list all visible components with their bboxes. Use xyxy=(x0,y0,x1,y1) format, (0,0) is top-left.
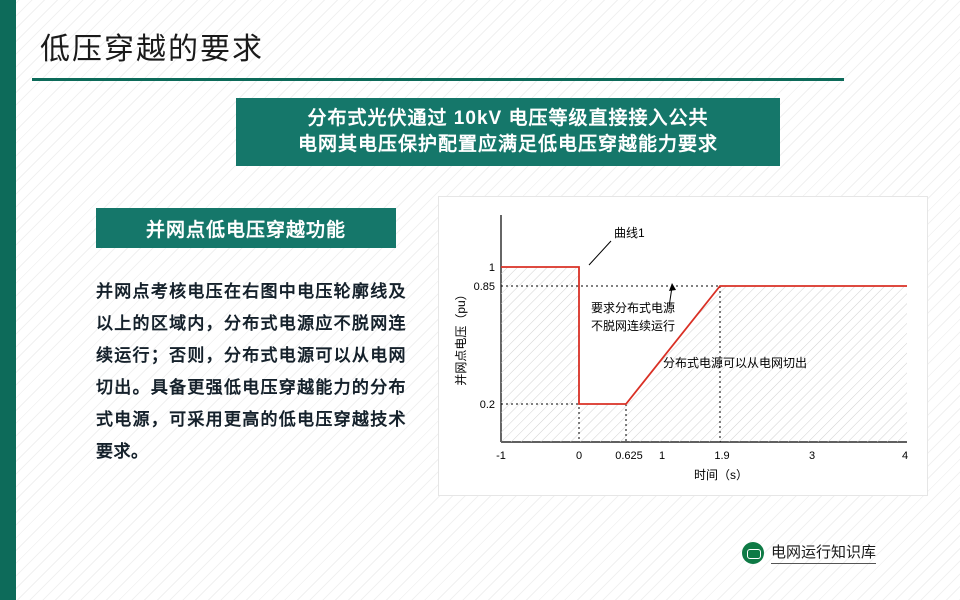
section-chip: 并网点低电压穿越功能 xyxy=(96,208,396,248)
x-tick-19: 1.9 xyxy=(714,450,729,462)
stay-online-label-line1: 要求分布式电源 xyxy=(591,301,675,315)
y-tick-085: 0.85 xyxy=(474,281,495,293)
wechat-icon xyxy=(742,542,764,564)
y-tick-02: 0.2 xyxy=(480,399,495,411)
x-tick--1: -1 xyxy=(496,450,506,462)
x-tick-0: 0 xyxy=(576,450,582,462)
headline-banner: 分布式光伏通过 10kV 电压等级直接接入公共 电网其电压保护配置应满足低电压穿… xyxy=(236,98,780,166)
y-axis-label: 并网点电压（pu） xyxy=(454,288,468,385)
disconnect-label: 分布式电源可以从电网切出 xyxy=(663,356,807,370)
section-chip-label: 并网点低电压穿越功能 xyxy=(146,215,346,242)
lvrt-chart-svg: 1 0.85 0.2 -1 0 0.625 1 1.9 3 4 时间（s） 并网… xyxy=(439,197,927,495)
brand-label: 电网运行知识库 xyxy=(771,541,876,564)
x-tick-0625: 0.625 xyxy=(615,450,643,462)
title-divider xyxy=(32,78,844,81)
stay-online-label-line2: 不脱网连续运行 xyxy=(591,318,675,333)
brand-footer: 电网运行知识库 xyxy=(742,541,876,564)
x-tick-3: 3 xyxy=(809,450,815,462)
headline-line-2: 电网其电压保护配置应满足低电压穿越能力要求 xyxy=(298,132,718,158)
page-title: 低压穿越的要求 xyxy=(16,24,852,78)
ride-through-region xyxy=(501,267,907,442)
x-axis-label: 时间（s） xyxy=(694,468,748,482)
y-tick-1: 1 xyxy=(489,262,495,274)
slide-title-block: 低压穿越的要求 xyxy=(16,24,852,81)
curve-label: 曲线1 xyxy=(614,226,645,240)
headline-line-1: 分布式光伏通过 10kV 电压等级直接接入公共 xyxy=(308,106,709,132)
lvrt-curve-figure: 1 0.85 0.2 -1 0 0.625 1 1.9 3 4 时间（s） 并网… xyxy=(438,196,928,496)
x-tick-4: 4 xyxy=(902,450,908,462)
left-accent-bar xyxy=(0,0,16,600)
body-paragraph: 并网点考核电压在右图中电压轮廓线及以上的区域内，分布式电源应不脱网连续运行；否则… xyxy=(96,276,406,468)
stay-online-arrow xyxy=(669,283,676,291)
curve-label-leader xyxy=(589,241,611,265)
x-tick-1: 1 xyxy=(659,450,665,462)
slide-background: 低压穿越的要求 分布式光伏通过 10kV 电压等级直接接入公共 电网其电压保护配… xyxy=(0,0,960,600)
